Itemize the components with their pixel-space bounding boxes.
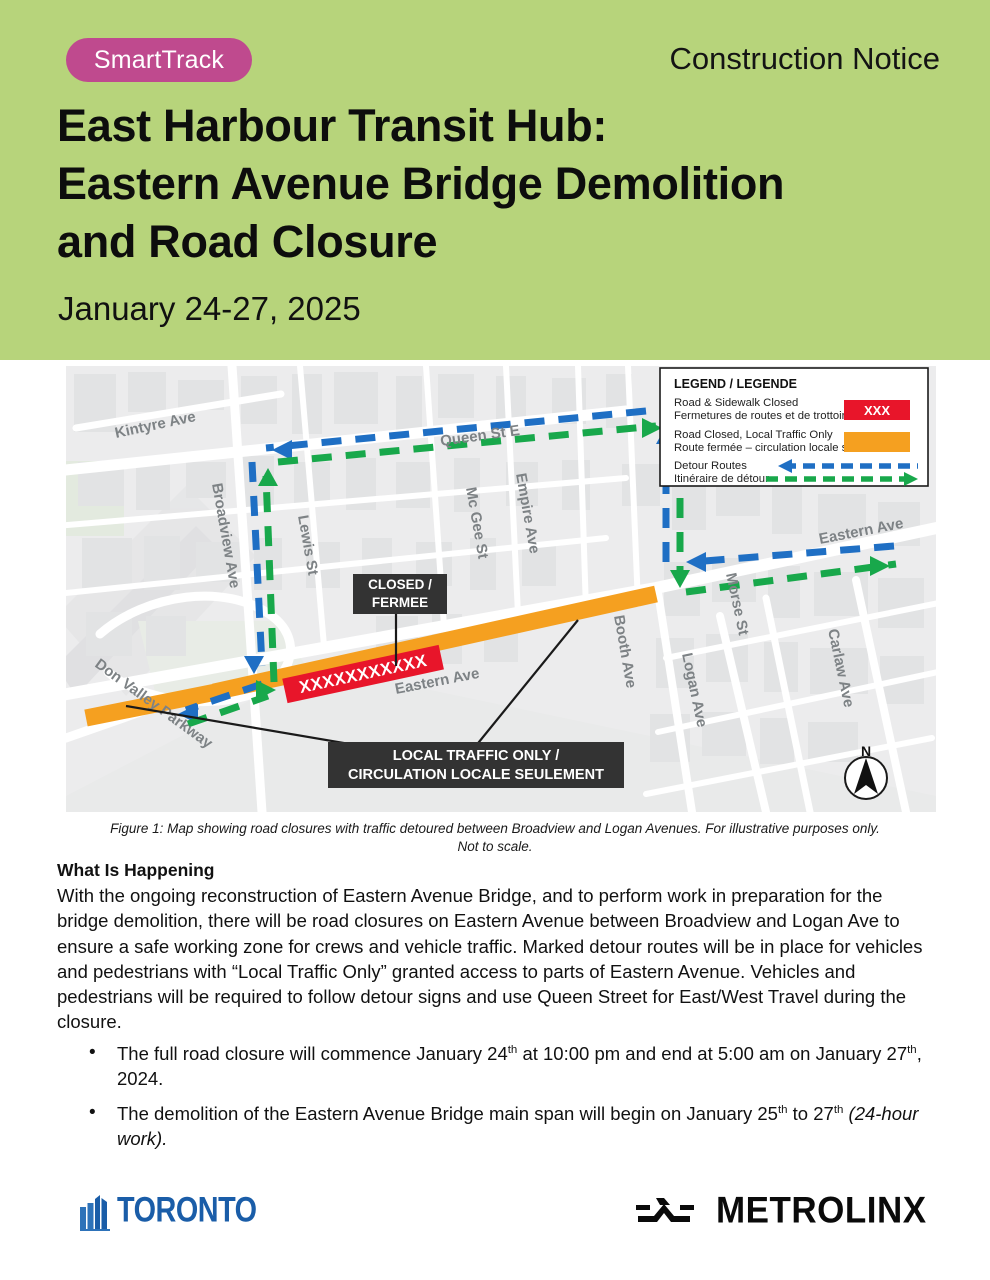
bullet-1-text-b: at 10:00 pm and end at 5:00 am on Januar… (517, 1043, 907, 1064)
page-title-line-3: and Road Closure (57, 213, 947, 271)
legend-item-1-en: Road & Sidewalk Closed (674, 397, 798, 409)
figure-caption-line-1: Figure 1: Map showing road closures with… (60, 820, 930, 838)
body-section: What Is Happening With the ongoing recon… (57, 858, 927, 1161)
legend-item-3-fr: Itinéraire de détour (674, 473, 769, 485)
bullet-2-text-a: The demolition of the Eastern Avenue Bri… (117, 1103, 778, 1124)
metrolinx-mark-icon (636, 1196, 704, 1226)
svg-text:XXX: XXX (864, 403, 890, 418)
metrolinx-wordmark: METROLINX (716, 1190, 927, 1232)
map-graphic: .rd{stroke:#ffffff;stroke-linecap:round;… (66, 366, 936, 812)
bullet-1-sup-a: th (508, 1044, 518, 1056)
bullet-2-text-b: to 27 (788, 1103, 834, 1124)
bullet-list: The full road closure will commence Janu… (57, 1041, 927, 1152)
legend-title: LEGEND / LEGENDE (674, 377, 797, 391)
toronto-wordmark: TORONTO (117, 1191, 257, 1231)
header-band: SmartTrack Construction Notice East Harb… (0, 0, 990, 360)
legend-swatch-local (844, 432, 910, 452)
legend-item-2-en: Road Closed, Local Traffic Only (674, 429, 833, 441)
body-paragraph: With the ongoing reconstruction of Easte… (57, 883, 927, 1035)
date-range-label: January 24-27, 2025 (58, 290, 361, 328)
page-title: East Harbour Transit Hub: Eastern Avenue… (57, 97, 947, 271)
list-item: The demolition of the Eastern Avenue Bri… (109, 1101, 927, 1152)
bullet-2-sup-a: th (778, 1104, 788, 1116)
legend-item-3-en: Detour Routes (674, 460, 747, 472)
footer-logos: TORONTO METROLINX (0, 1185, 990, 1260)
figure-caption: Figure 1: Map showing road closures with… (60, 820, 930, 856)
smarttrack-badge-label: SmartTrack (94, 46, 224, 75)
svg-text:LOCAL TRAFFIC ONLY /: LOCAL TRAFFIC ONLY / (393, 748, 560, 764)
bullet-1-text-a: The full road closure will commence Janu… (117, 1043, 508, 1064)
closure-map: .rd{stroke:#ffffff;stroke-linecap:round;… (66, 366, 936, 812)
smarttrack-badge: SmartTrack (66, 38, 252, 82)
svg-text:CIRCULATION LOCALE SEULEMENT: CIRCULATION LOCALE SEULEMENT (348, 767, 604, 783)
list-item: The full road closure will commence Janu… (109, 1041, 927, 1092)
bullet-2-sup-b: th (834, 1104, 844, 1116)
svg-text:N: N (861, 743, 871, 759)
svg-text:CLOSED /: CLOSED / (368, 577, 432, 592)
legend-item-1-fr: Fermetures de routes et de trottoirs (674, 410, 851, 422)
construction-notice-label: Construction Notice (669, 41, 940, 77)
page-title-line-1: East Harbour Transit Hub: (57, 97, 947, 155)
city-of-toronto-logo: TORONTO (80, 1193, 262, 1231)
toronto-towers-icon (80, 1193, 112, 1231)
page-title-line-2: Eastern Avenue Bridge Demolition (57, 155, 947, 213)
map-legend: LEGEND / LEGENDE Road & Sidewalk Closed … (660, 368, 928, 486)
metrolinx-logo: METROLINX (636, 1191, 927, 1231)
figure-caption-line-2: Not to scale. (60, 838, 930, 856)
section-heading-what-is-happening: What Is Happening (57, 858, 927, 882)
bullet-1-sup-b: th (907, 1044, 917, 1056)
svg-text:FERMEE: FERMEE (372, 595, 428, 610)
